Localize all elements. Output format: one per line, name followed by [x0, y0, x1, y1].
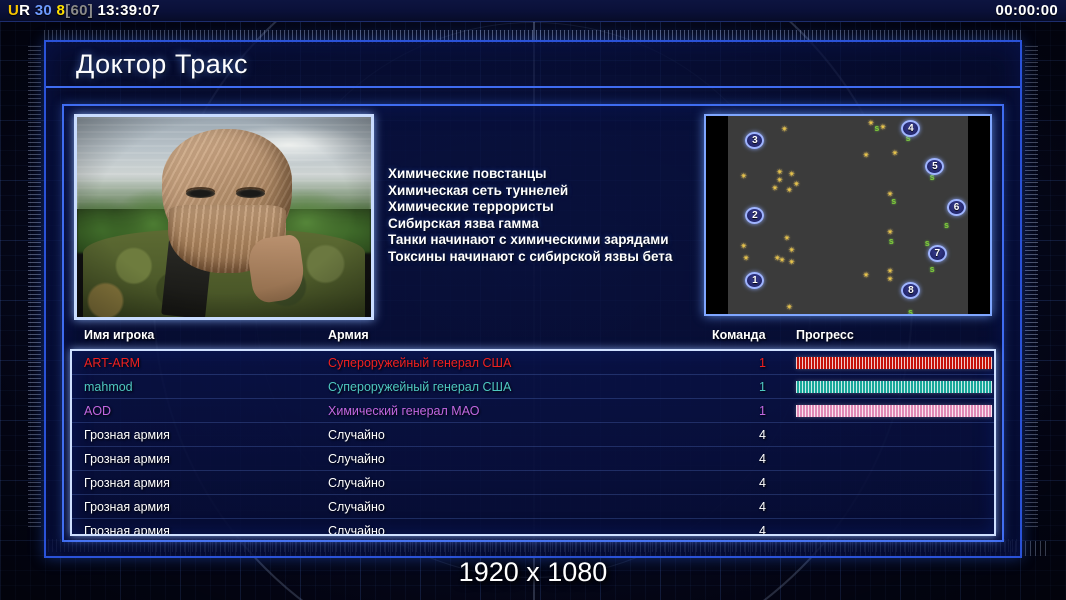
description-line: Химическая сеть туннелей [388, 183, 718, 200]
minimap-resource-supply: s [944, 221, 949, 230]
cell-army: Случайно [328, 452, 385, 466]
description-line: Химические террористы [388, 199, 718, 216]
cell-team: 4 [732, 524, 766, 536]
dialog-title-bar: Доктор Тракс [46, 42, 1020, 88]
table-row[interactable]: AODХимический генерал МАО1 [72, 399, 994, 423]
minimap-resource-supply: s [930, 173, 935, 182]
progress-bar [796, 405, 992, 417]
minimap-resource-gold: ✴ [891, 150, 898, 157]
minimap-start-position-4[interactable]: 4 [901, 120, 920, 137]
portrait-vignette [77, 117, 371, 317]
cell-progress [796, 357, 992, 369]
minimap-resource-supply: s [891, 197, 896, 206]
cell-army: Супероружейный генерал США [328, 380, 511, 394]
minimap-resource-supply: s [889, 237, 894, 246]
header-army: Армия [328, 328, 369, 342]
frame-min: 8 [57, 2, 66, 19]
minimap-resource-gold: ✴ [879, 124, 886, 131]
description-line: Сибирская язва гамма [388, 216, 718, 233]
table-row[interactable]: Грозная армияСлучайно4 [72, 519, 994, 536]
progress-bar [796, 381, 992, 393]
cell-player-name: ART-ARM [84, 356, 140, 370]
table-row[interactable]: Грозная армияСлучайно4 [72, 495, 994, 519]
minimap-resource-gold: ✴ [783, 235, 790, 242]
description-line: Танки начинают с химическими зарядами [388, 232, 718, 249]
cell-progress [796, 381, 992, 393]
cell-army: Случайно [328, 524, 385, 536]
table-row[interactable]: Грозная армияСлучайно4 [72, 471, 994, 495]
description-line: Токсины начинают с сибирской язвы бета [388, 249, 718, 266]
cell-player-name: Грозная армия [84, 476, 170, 490]
minimap-resource-gold: ✴ [781, 126, 788, 133]
loading-dialog: Доктор Тракс Х [44, 40, 1022, 558]
cell-army: Случайно [328, 476, 385, 490]
cell-player-name: mahmod [84, 380, 133, 394]
minimap-start-position-2[interactable]: 2 [745, 207, 764, 224]
minimap-resource-gold: ✴ [862, 152, 869, 159]
minimap-resource-supply: s [874, 124, 879, 133]
minimap-resource-gold: ✴ [786, 187, 793, 194]
cell-player-name: Грозная армия [84, 428, 170, 442]
cell-player-name: Грозная армия [84, 524, 170, 536]
cell-player-name: Грозная армия [84, 500, 170, 514]
table-row[interactable]: ART-ARMСупероружейный генерал США1 [72, 351, 994, 375]
minimap-start-position-6[interactable]: 6 [947, 199, 966, 216]
minimap-resource-gold: ✴ [771, 185, 778, 192]
cell-team: 1 [732, 404, 766, 418]
minimap-resource-gold: ✴ [742, 255, 749, 262]
minimap-resource-gold: ✴ [788, 247, 795, 254]
cell-progress [796, 405, 992, 417]
minimap-resource-gold: ✴ [778, 257, 785, 264]
system-clock: 13:39:07 [98, 2, 160, 19]
cell-team: 1 [732, 356, 766, 370]
header-progress: Прогресс [796, 328, 854, 342]
page-title: Доктор Тракс [76, 49, 248, 80]
general-portrait-frame [74, 114, 374, 320]
minimap-start-position-5[interactable]: 5 [925, 158, 944, 175]
general-description: Химические повстанцы Химическая сеть тун… [388, 166, 718, 266]
minimap-resource-gold: ✴ [740, 173, 747, 180]
description-line: Химические повстанцы [388, 166, 718, 183]
minimap-start-position-8[interactable]: 8 [901, 282, 920, 299]
minimap: ✴✴✴✴✴✴✴✴✴✴✴✴✴✴✴✴✴✴✴✴✴✴✴✴✴sssssssss123456… [728, 116, 968, 314]
minimap-start-position-3[interactable]: 3 [745, 132, 764, 149]
player-table-header: Имя игрока Армия Команда Прогресс [72, 328, 994, 348]
cell-team: 1 [732, 380, 766, 394]
cell-army: Супероружейный генерал США [328, 356, 511, 370]
header-team: Команда [712, 328, 766, 342]
table-row[interactable]: mahmodСупероружейный генерал США1 [72, 375, 994, 399]
progress-bar [796, 357, 992, 369]
fps-prefix-u: U [8, 2, 19, 19]
header-player-name: Имя игрока [84, 328, 154, 342]
fps-value: 30 [35, 2, 52, 19]
cell-player-name: Грозная армия [84, 452, 170, 466]
minimap-resource-gold: ✴ [886, 276, 893, 283]
minimap-resource-gold: ✴ [788, 171, 795, 178]
cell-team: 4 [732, 476, 766, 490]
fps-prefix-r: R [19, 2, 30, 19]
minimap-resource-gold: ✴ [862, 272, 869, 279]
content-frame: Химические повстанцы Химическая сеть тун… [62, 104, 1004, 542]
table-row[interactable]: Грозная армияСлучайно4 [72, 447, 994, 471]
minimap-resource-gold: ✴ [793, 181, 800, 188]
minimap-resource-supply: s [908, 308, 913, 314]
cell-army: Случайно [328, 500, 385, 514]
minimap-resource-supply: s [925, 239, 930, 248]
frame-max: [60] [65, 2, 93, 19]
cell-army: Случайно [328, 428, 385, 442]
minimap-resource-gold: ✴ [886, 229, 893, 236]
briefing-row: Химические повстанцы Химическая сеть тун… [72, 114, 994, 320]
resolution-overlay: 1920 x 1080 [0, 557, 1066, 588]
cell-team: 4 [732, 500, 766, 514]
fps-readout: UR 30 8[60] 13:39:07 [8, 2, 160, 19]
cell-army: Химический генерал МАО [328, 404, 479, 418]
minimap-resource-gold: ✴ [776, 177, 783, 184]
minimap-start-position-1[interactable]: 1 [745, 272, 764, 289]
player-table: ART-ARMСупероружейный генерал США1mahmod… [70, 349, 996, 536]
minimap-frame: ✴✴✴✴✴✴✴✴✴✴✴✴✴✴✴✴✴✴✴✴✴✴✴✴✴sssssssss123456… [704, 114, 992, 316]
general-portrait-image [77, 117, 371, 317]
cell-team: 4 [732, 452, 766, 466]
minimap-resource-gold: ✴ [786, 304, 793, 311]
cell-player-name: AOD [84, 404, 111, 418]
minimap-resource-gold: ✴ [788, 259, 795, 266]
cell-team: 4 [732, 428, 766, 442]
minimap-resource-supply: s [930, 265, 935, 274]
minimap-resource-gold: ✴ [740, 243, 747, 250]
game-timer: 00:00:00 [996, 2, 1058, 19]
top-status-bar: UR 30 8[60] 13:39:07 00:00:00 [0, 0, 1066, 22]
table-row[interactable]: Грозная армияСлучайно4 [72, 423, 994, 447]
minimap-start-position-7[interactable]: 7 [928, 245, 947, 262]
